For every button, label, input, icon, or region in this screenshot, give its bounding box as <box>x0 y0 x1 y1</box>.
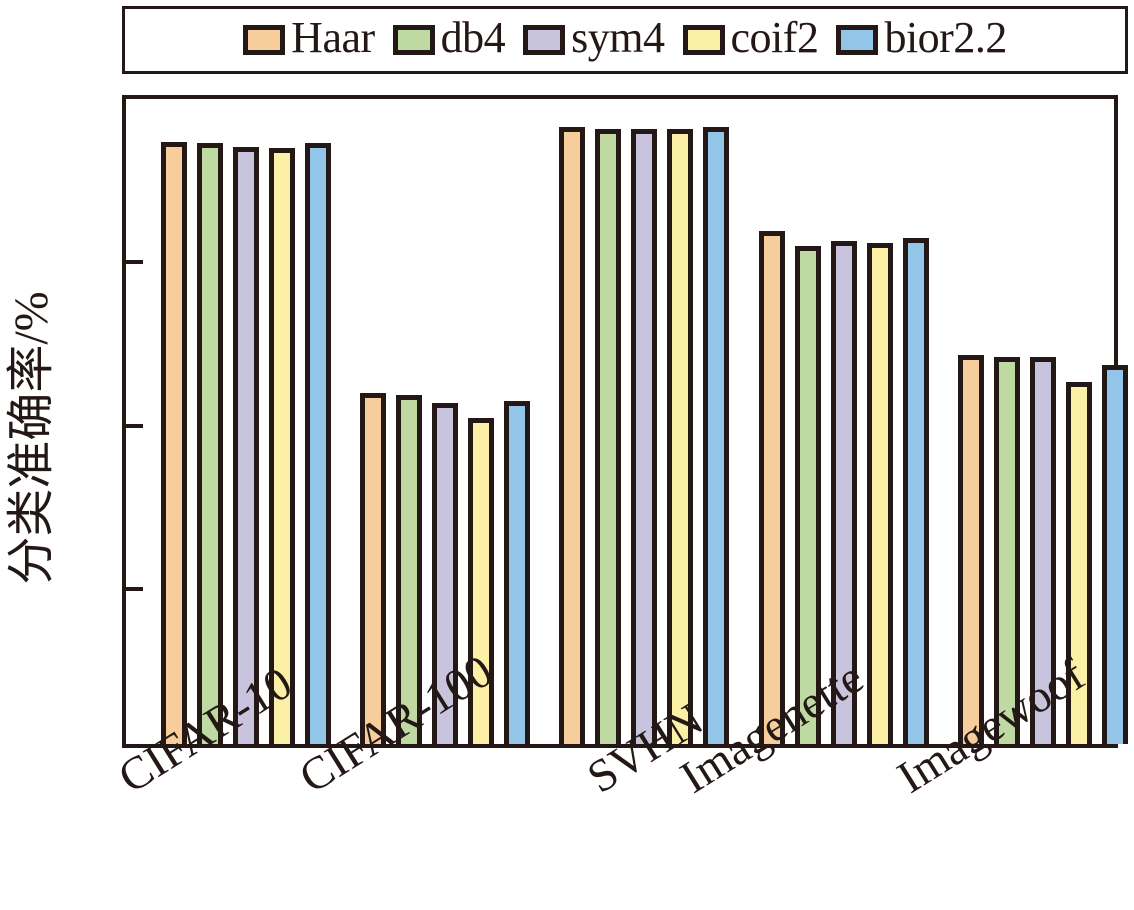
plot-area <box>126 99 1114 744</box>
bar-haar-imagenette <box>759 231 785 744</box>
legend-entry-coif2: coif2 <box>683 16 819 64</box>
legend-swatch-sym4 <box>523 25 565 55</box>
bar-group-cifar-100 <box>360 99 540 744</box>
legend-label-haar: Haar <box>291 16 375 64</box>
legend-label-bior22: bior2.2 <box>884 16 1006 64</box>
bar-haar-cifar-10 <box>161 142 187 744</box>
bar-group-cifar-10 <box>161 99 341 744</box>
bar-coif2-imagenette <box>867 243 893 744</box>
bar-bior22-cifar-100 <box>504 401 530 744</box>
bar-db4-svhn <box>595 129 621 744</box>
x-axis-tick-labels: CIFAR-10CIFAR-100SVHNImagenetteImagewoof <box>0 748 1134 910</box>
legend-label-db4: db4 <box>441 16 506 64</box>
bar-haar-imagewoof <box>958 355 984 744</box>
bar-bior22-svhn <box>703 127 729 744</box>
legend-swatch-bior22 <box>836 25 878 55</box>
legend-entry-haar: Haar <box>243 16 375 64</box>
bar-bior22-imagenette <box>903 238 929 744</box>
chart-legend: Haar db4 sym4 coif2 bior2.2 <box>122 6 1128 74</box>
bar-coif2-cifar-10 <box>269 148 295 744</box>
y-tick-mark-80 <box>126 424 143 428</box>
legend-swatch-haar <box>243 25 285 55</box>
bar-db4-cifar-10 <box>197 143 223 744</box>
bar-sym4-cifar-10 <box>233 147 259 744</box>
legend-label-coif2: coif2 <box>731 16 819 64</box>
bar-sym4-svhn <box>631 129 657 744</box>
bar-coif2-svhn <box>667 129 693 744</box>
bar-group-svhn <box>559 99 739 744</box>
legend-entry-db4: db4 <box>393 16 506 64</box>
legend-entry-bior22: bior2.2 <box>836 16 1006 64</box>
y-tick-mark-70 <box>126 587 143 591</box>
plot-frame <box>122 95 1118 748</box>
bar-bior22-imagewoof <box>1102 365 1128 744</box>
legend-entry-sym4: sym4 <box>523 16 664 64</box>
bar-group-imagenette <box>759 99 939 744</box>
bar-bior22-cifar-10 <box>305 143 331 744</box>
y-tick-mark-90 <box>126 260 143 264</box>
legend-swatch-coif2 <box>683 25 725 55</box>
legend-swatch-db4 <box>393 25 435 55</box>
bar-haar-svhn <box>559 127 585 744</box>
bar-haar-cifar-100 <box>360 393 386 744</box>
bar-group-imagewoof <box>958 99 1134 744</box>
legend-label-sym4: sym4 <box>571 16 664 64</box>
